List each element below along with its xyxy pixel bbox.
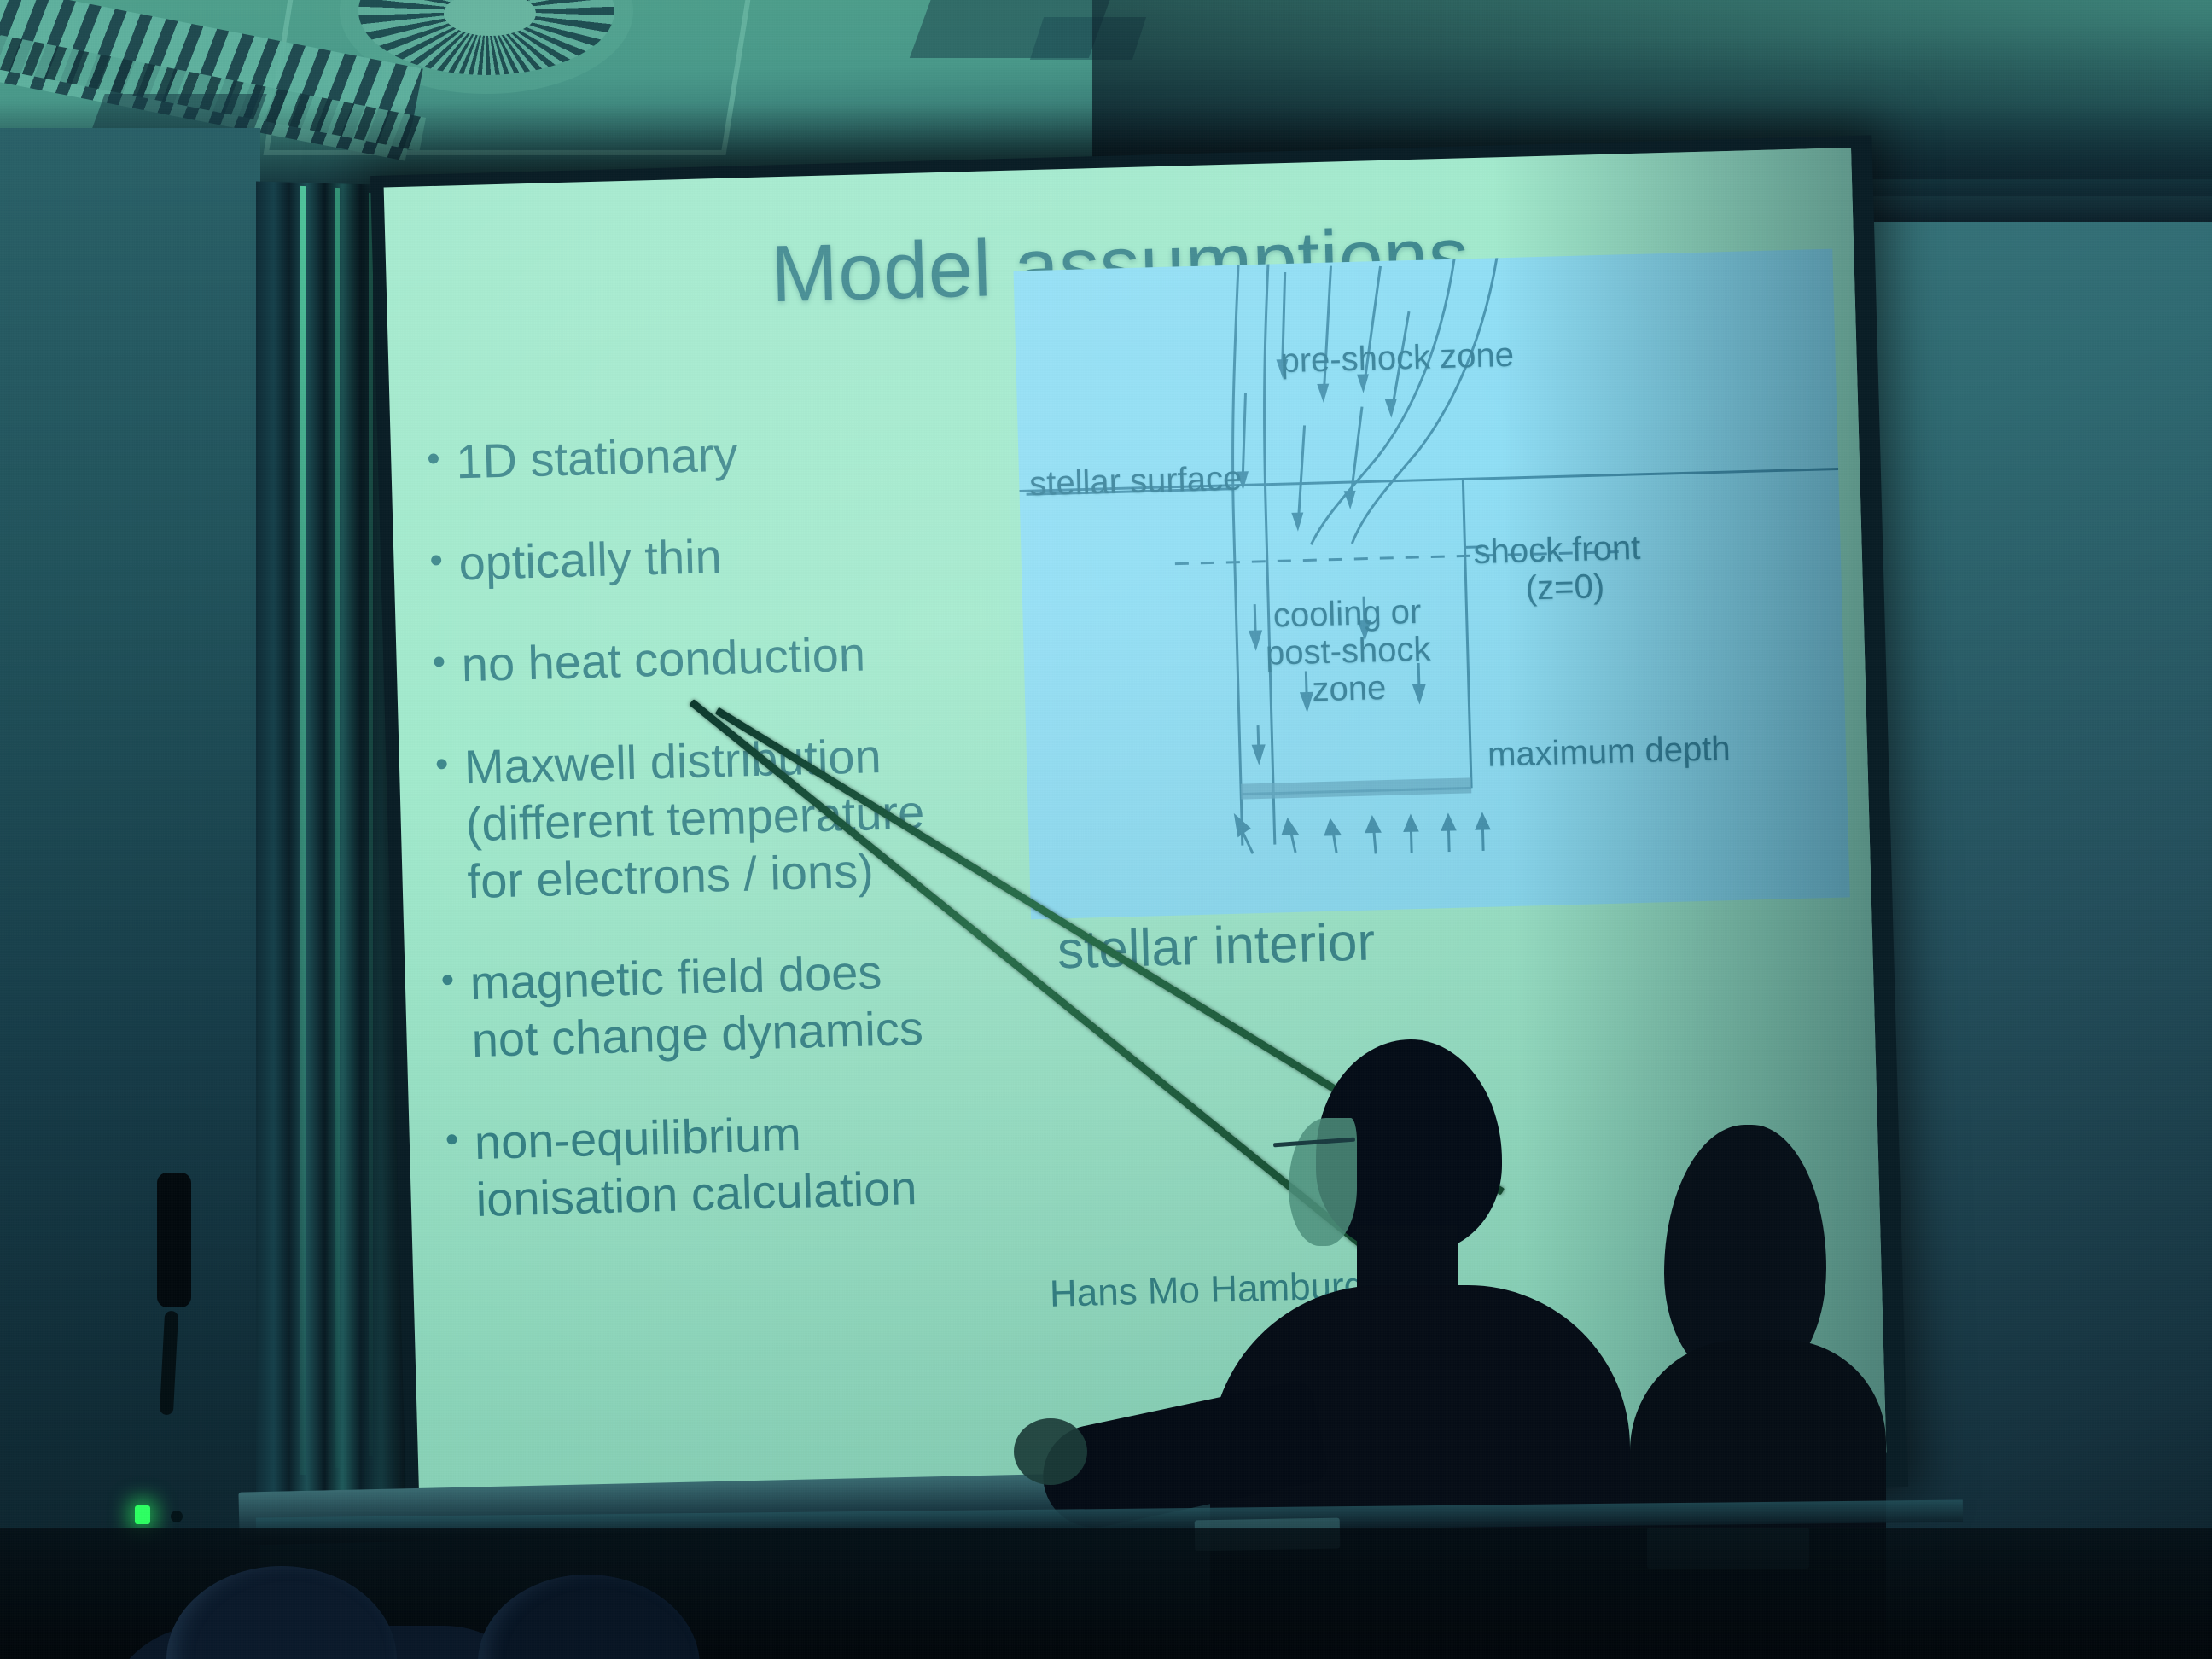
bullet-text: Maxwell distribution (different temperat… <box>463 724 1002 910</box>
bullet-text: no heat conduction <box>461 622 997 694</box>
bullet-marker-icon: • <box>432 637 463 695</box>
bullet-text: optically thin <box>458 521 994 592</box>
diagram-label-max-depth: maximum depth <box>1487 730 1731 774</box>
bullet-marker-icon: • <box>445 1114 477 1229</box>
diagram-label-preshock: pre-shock zone <box>1280 336 1515 380</box>
left-wall <box>0 128 260 1659</box>
right-wall-panel <box>1860 0 2212 1659</box>
bullet-item: • magnetic field does not change dynamic… <box>440 940 1006 1069</box>
bullet-marker-icon: • <box>434 738 468 911</box>
bullet-text: 1D stationary <box>455 418 991 490</box>
curtain-fold-highlight <box>335 188 340 1468</box>
diagram-label-stellar-surface: stellar surface <box>1029 459 1243 503</box>
bullet-marker-icon: • <box>426 433 457 491</box>
wall-phone-icon <box>157 1173 191 1307</box>
diagram-label-shock-front-coord: (z=0) <box>1525 568 1604 607</box>
speaker-hand <box>1014 1418 1087 1485</box>
bullet-marker-icon: • <box>440 954 473 1069</box>
diagram-label-postshock: cooling or post-shock zone <box>1236 592 1460 711</box>
bullet-marker-icon: • <box>429 535 460 593</box>
bullet-item: • non-equilibrium ionisation calculation <box>445 1099 1010 1229</box>
bullet-item: • no heat conduction <box>432 622 997 695</box>
shock-zone-diagram: pre-shock zone stellar surface shock fro… <box>1014 249 1850 920</box>
bullet-item: • optically thin <box>429 521 994 593</box>
bullet-text: magnetic field does not change dynamics <box>469 940 1006 1068</box>
green-status-led-icon <box>135 1505 150 1524</box>
curtain-fold-highlight <box>300 186 306 1475</box>
slide-bullet-list: • 1D stationary • optically thin • no he… <box>426 418 1011 1272</box>
projected-slide: Model assumptions <box>384 148 1887 1493</box>
wall-socket-icon <box>171 1511 183 1522</box>
bullet-text: non-equilibrium ionisation calculation <box>474 1099 1010 1228</box>
curtain-fold-highlight <box>369 193 373 1456</box>
bullet-item: • 1D stationary <box>426 418 991 491</box>
photo-scene: Model assumptions <box>0 0 2212 1659</box>
diagram-label-shock-front: shock front <box>1473 529 1641 571</box>
